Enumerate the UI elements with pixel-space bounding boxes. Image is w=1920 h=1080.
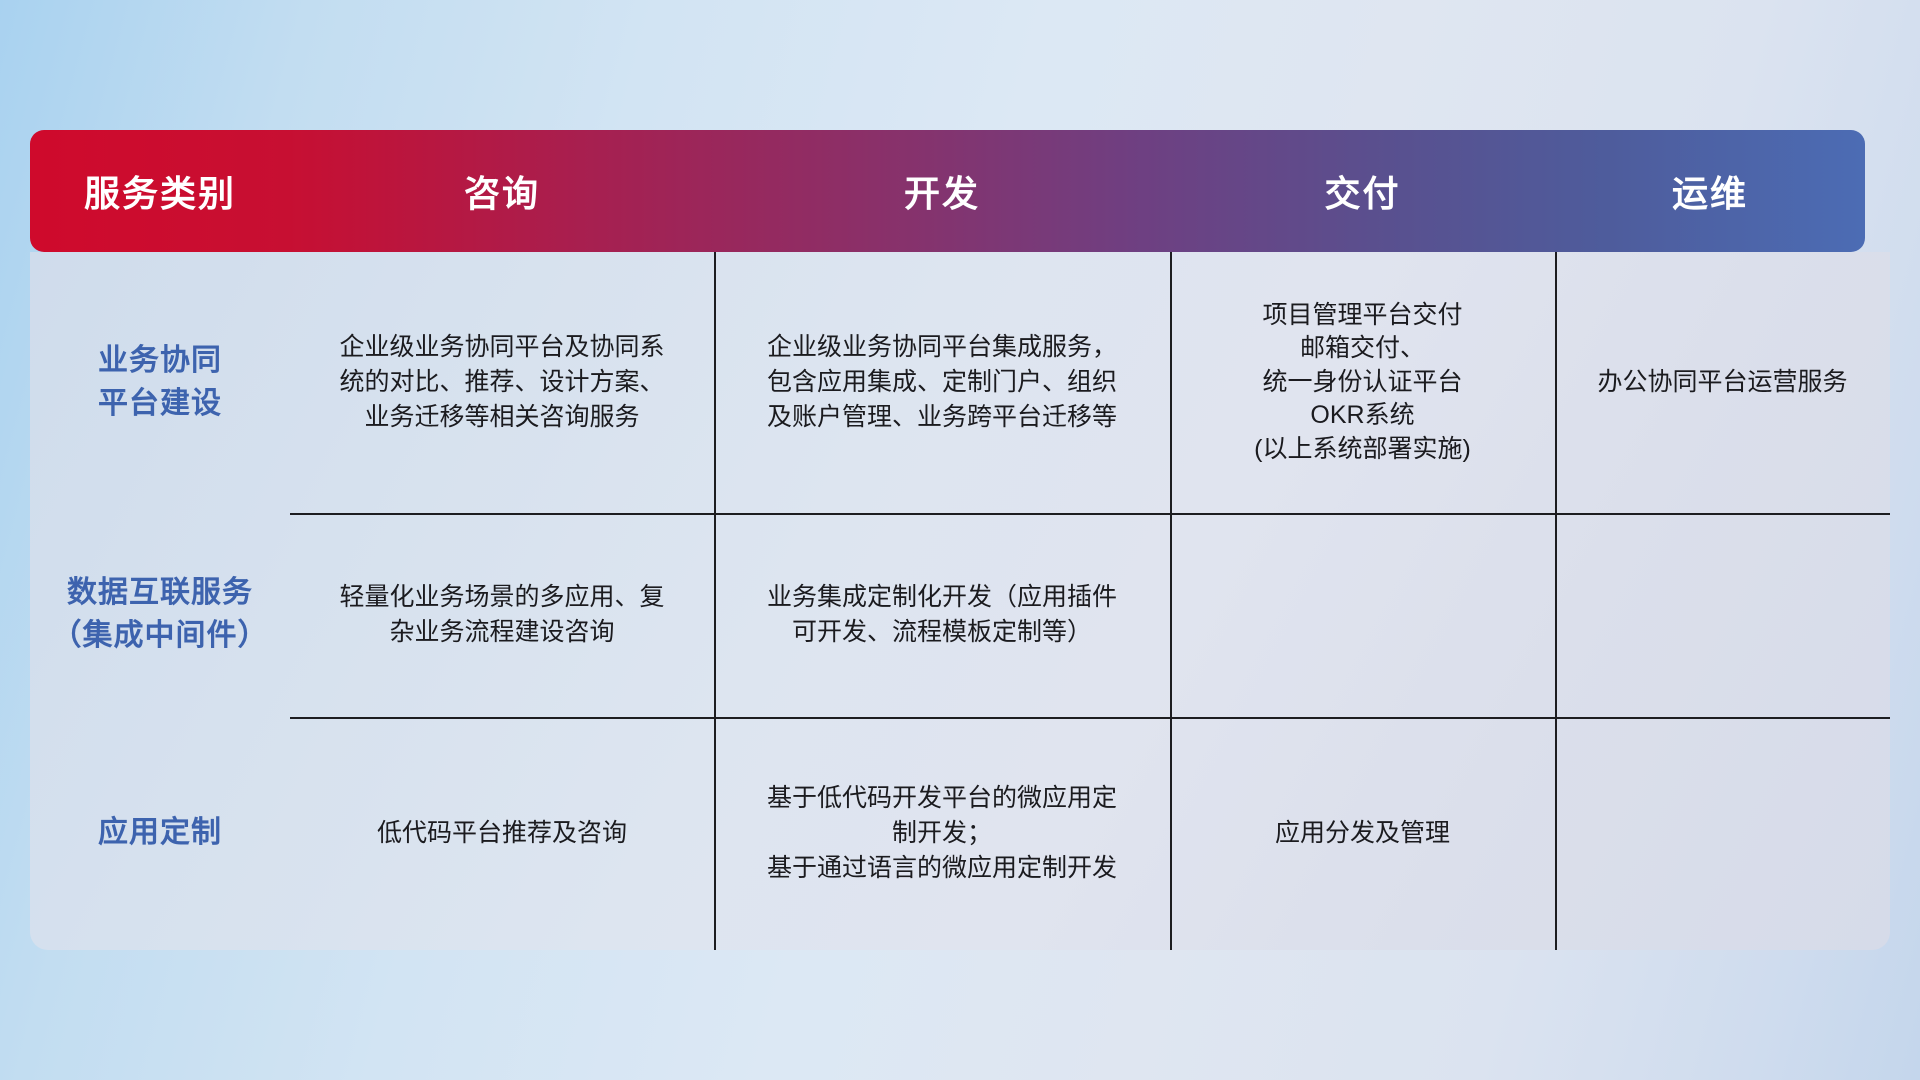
table-row: 数据互联服务 （集成中间件） 轻量化业务场景的多应用、复 杂业务流程建设咨询 业… [30,513,1890,717]
category-label: 应用定制 [98,812,222,855]
column-header-operations: 运维 [1555,165,1865,217]
cell-text: 企业级业务协同平台及协同系 统的对比、推荐、设计方案、 业务迁移等相关咨询服务 [339,330,664,435]
category-label: 业务协同 平台建设 [98,340,222,425]
services-matrix-table: 服务类别 咨询 开发 交付 运维 业务协同 平台建设 企业级业务协同平台及协同系… [30,130,1890,950]
cell-text: 基于低代码开发平台的微应用定 制开发； 基于通过语言的微应用定制开发 [767,781,1117,886]
cell-delivery: 应用分发及管理 [1170,717,1555,950]
table-body: 业务协同 平台建设 企业级业务协同平台及协同系 统的对比、推荐、设计方案、 业务… [30,252,1890,950]
cell-category: 应用定制 [30,717,290,950]
column-header-delivery: 交付 [1170,165,1555,217]
category-label: 数据互联服务 （集成中间件） [52,572,269,657]
cell-category: 业务协同 平台建设 [30,252,290,513]
cell-text: 企业级业务协同平台集成服务， 包含应用集成、定制门户、组织 及账户管理、业务跨平… [767,330,1117,435]
cell-development: 业务集成定制化开发（应用插件 可开发、流程模板定制等） [714,513,1170,717]
cell-consulting: 企业级业务协同平台及协同系 统的对比、推荐、设计方案、 业务迁移等相关咨询服务 [290,252,714,513]
cell-text: 应用分发及管理 [1275,816,1450,851]
cell-text: 低代码平台推荐及咨询 [377,816,627,851]
cell-delivery [1170,513,1555,717]
column-divider [714,252,716,950]
cell-operations: 办公协同平台运营服务 [1555,252,1890,513]
cell-operations [1555,717,1890,950]
table-row: 业务协同 平台建设 企业级业务协同平台及协同系 统的对比、推荐、设计方案、 业务… [30,252,1890,513]
cell-development: 企业级业务协同平台集成服务， 包含应用集成、定制门户、组织 及账户管理、业务跨平… [714,252,1170,513]
column-header-category: 服务类别 [30,165,290,217]
table-header-row: 服务类别 咨询 开发 交付 运维 [30,130,1865,252]
cell-delivery: 项目管理平台交付 邮箱交付、 统一身份认证平台 OKR系统 (以上系统部署实施) [1170,252,1555,513]
cell-text: 轻量化业务场景的多应用、复 杂业务流程建设咨询 [339,580,664,650]
slide-canvas: 服务类别 咨询 开发 交付 运维 业务协同 平台建设 企业级业务协同平台及协同系… [0,0,1920,1080]
column-divider [1170,252,1172,950]
cell-development: 基于低代码开发平台的微应用定 制开发； 基于通过语言的微应用定制开发 [714,717,1170,950]
cell-consulting: 低代码平台推荐及咨询 [290,717,714,950]
cell-category: 数据互联服务 （集成中间件） [30,513,290,717]
cell-text: 办公协同平台运营服务 [1597,365,1847,400]
column-divider [1555,252,1557,950]
cell-consulting: 轻量化业务场景的多应用、复 杂业务流程建设咨询 [290,513,714,717]
row-divider [290,513,1890,515]
cell-text: 业务集成定制化开发（应用插件 可开发、流程模板定制等） [767,580,1117,650]
table-row: 应用定制 低代码平台推荐及咨询 基于低代码开发平台的微应用定 制开发； 基于通过… [30,717,1890,950]
row-divider [290,717,1890,719]
column-header-development: 开发 [714,165,1170,217]
cell-operations [1555,513,1890,717]
cell-text: 项目管理平台交付 邮箱交付、 统一身份认证平台 OKR系统 (以上系统部署实施) [1254,299,1471,467]
column-header-consulting: 咨询 [290,165,714,217]
